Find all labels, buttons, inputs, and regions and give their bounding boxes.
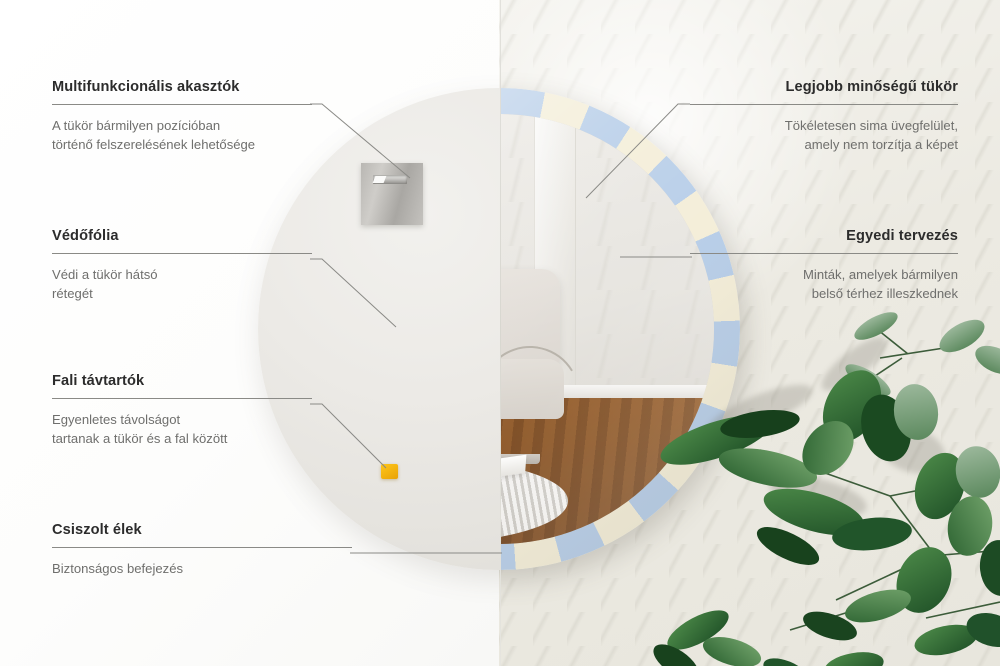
callout-rule <box>52 547 352 548</box>
callout-rule <box>690 104 958 105</box>
callout-rule <box>690 253 958 254</box>
callout-description: Minták, amelyek bármilyen belső térhez i… <box>690 265 958 303</box>
callout-title: Csiszolt élek <box>52 522 352 538</box>
callout-legjobb-minosegu-tukor: Legjobb minőségű tükör Tökéletesen sima … <box>690 79 958 154</box>
callout-description: Biztonságos befejezés <box>52 559 352 578</box>
callout-title: Multifunkcionális akasztók <box>52 79 312 95</box>
infographic-canvas: Multifunkcionális akasztók A tükör bármi… <box>0 0 1000 666</box>
callout-description: Egyenletes távolságot tartanak a tükör é… <box>52 410 312 448</box>
callout-rule <box>52 253 312 254</box>
mirror-back-panel <box>258 88 501 570</box>
callout-title: Fali távtartók <box>52 373 312 389</box>
callout-rule <box>52 104 312 105</box>
wall-spacer <box>381 464 398 479</box>
callout-vedofolia: Védőfólia Védi a tükör hátsó rétegét <box>52 228 312 303</box>
foliage-decoration <box>640 300 1000 666</box>
callout-multifunkcionalis-akasztok: Multifunkcionális akasztók A tükör bármi… <box>52 79 312 154</box>
callout-title: Legjobb minőségű tükör <box>690 79 958 95</box>
callout-title: Egyedi tervezés <box>690 228 958 244</box>
hanger-plate <box>361 163 423 225</box>
hanger-slot-icon <box>373 175 407 184</box>
callout-rule <box>52 398 312 399</box>
callout-description: Védi a tükör hátsó rétegét <box>52 265 312 303</box>
callout-description: A tükör bármilyen pozícióban történő fel… <box>52 116 312 154</box>
callout-description: Tökéletesen sima üvegfelület, amely nem … <box>690 116 958 154</box>
callout-fali-tavtartok: Fali távtartók Egyenletes távolságot tar… <box>52 373 312 448</box>
panel-divider <box>500 0 501 666</box>
callout-csiszolt-elek: Csiszolt élek Biztonságos befejezés <box>52 522 352 578</box>
callout-title: Védőfólia <box>52 228 312 244</box>
callout-egyedi-tervezes: Egyedi tervezés Minták, amelyek bármilye… <box>690 228 958 303</box>
